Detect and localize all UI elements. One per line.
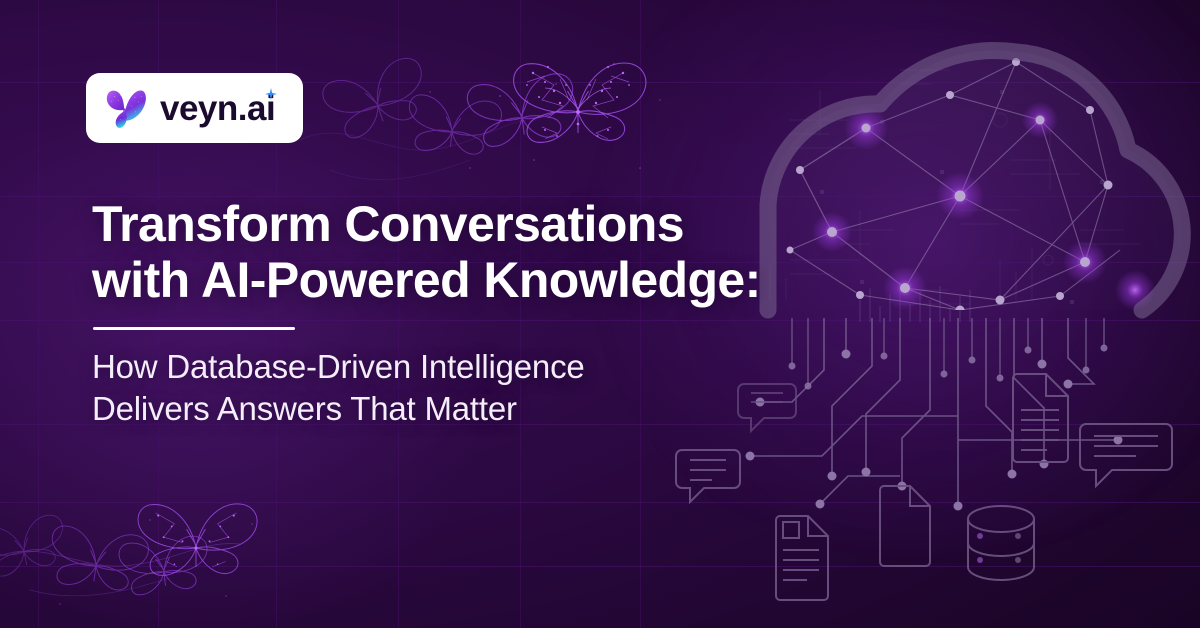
subheadline-line-2: Delivers Answers That Matter — [92, 388, 972, 430]
headline-line-2: with AI-Powered Knowledge: — [92, 252, 972, 308]
headline-line-1: Transform Conversations — [92, 196, 972, 252]
logo-wordmark: veyn.ai — [160, 91, 275, 126]
blog-banner: veyn.ai Transform Conversations with AI-… — [0, 0, 1200, 628]
butterfly-icon — [103, 85, 149, 131]
logo[interactable]: veyn.ai — [86, 73, 303, 143]
page-subtitle: How Database-Driven Intelligence Deliver… — [92, 346, 972, 429]
sparkle-icon — [265, 88, 277, 100]
subheadline-line-1: How Database-Driven Intelligence — [92, 346, 972, 388]
page-title: Transform Conversations with AI-Powered … — [92, 196, 972, 308]
divider — [93, 327, 295, 330]
copy-block: Transform Conversations with AI-Powered … — [92, 196, 972, 429]
